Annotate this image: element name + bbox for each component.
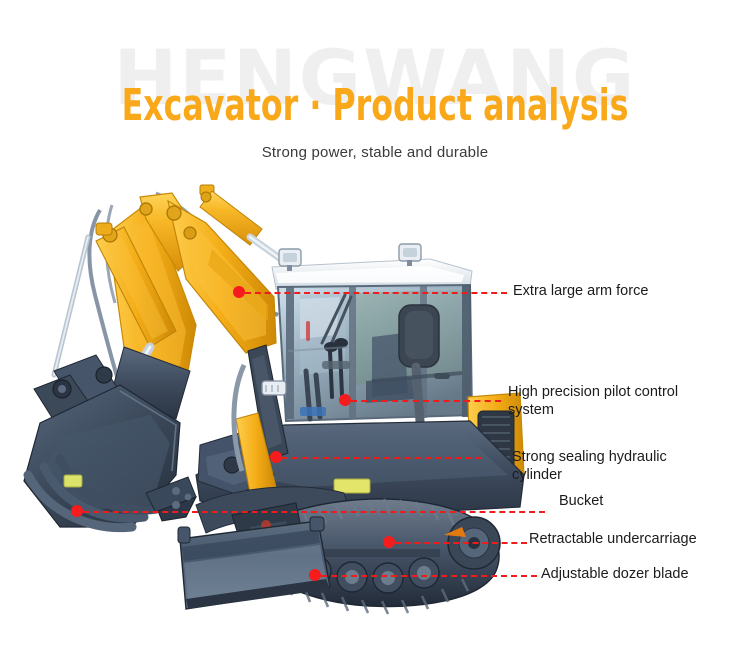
callout-label-hydraulic-cylinder: Strong sealing hydraulic cylinder xyxy=(512,449,667,484)
linkage-pin xyxy=(96,367,112,383)
anchor-dot-arm-force xyxy=(233,286,245,298)
blade-ear xyxy=(310,517,324,531)
excavator-illustration xyxy=(0,175,540,620)
warning-label xyxy=(64,475,82,487)
anchor-dot-dozer-blade xyxy=(309,569,321,581)
bucket-assembly xyxy=(24,347,196,528)
leader-line-bucket xyxy=(83,511,545,513)
warning-label xyxy=(334,479,370,493)
leader-line-arm-force xyxy=(245,292,507,294)
pivot-pin xyxy=(184,227,196,239)
callout-label-bucket: Bucket xyxy=(559,493,603,511)
page-subtitle: Strong power, stable and durable xyxy=(0,144,750,161)
product-analysis-poster: HENGWANG Excavator · Product analysis St… xyxy=(0,0,750,646)
callout-label-dozer-blade: Adjustable dozer blade xyxy=(541,566,689,584)
pivot-pin xyxy=(167,206,181,220)
leader-line-pilot-control xyxy=(351,400,501,402)
callout-label-arm-force: Extra large arm force xyxy=(513,283,648,301)
page-title: Excavator · Product analysis xyxy=(75,84,675,128)
interior-detail xyxy=(306,321,310,341)
leader-line-undercarriage xyxy=(395,542,527,544)
anchor-dot-pilot-control xyxy=(339,394,351,406)
callout-label-pilot-control: High precision pilot control system xyxy=(508,384,678,419)
blade-ear xyxy=(178,527,190,543)
operator-cab xyxy=(272,244,472,421)
anchor-dot-bucket xyxy=(71,505,83,517)
pivot-pin xyxy=(140,203,152,215)
boom-work-light xyxy=(262,381,286,395)
leader-line-dozer-blade xyxy=(321,575,537,577)
anchor-dot-hydraulic-cylinder xyxy=(270,451,282,463)
anchor-dot-undercarriage xyxy=(383,536,395,548)
cab-post xyxy=(286,287,294,419)
leader-line-hydraulic-cylinder xyxy=(282,457,482,459)
callout-label-undercarriage: Retractable undercarriage xyxy=(529,531,697,549)
